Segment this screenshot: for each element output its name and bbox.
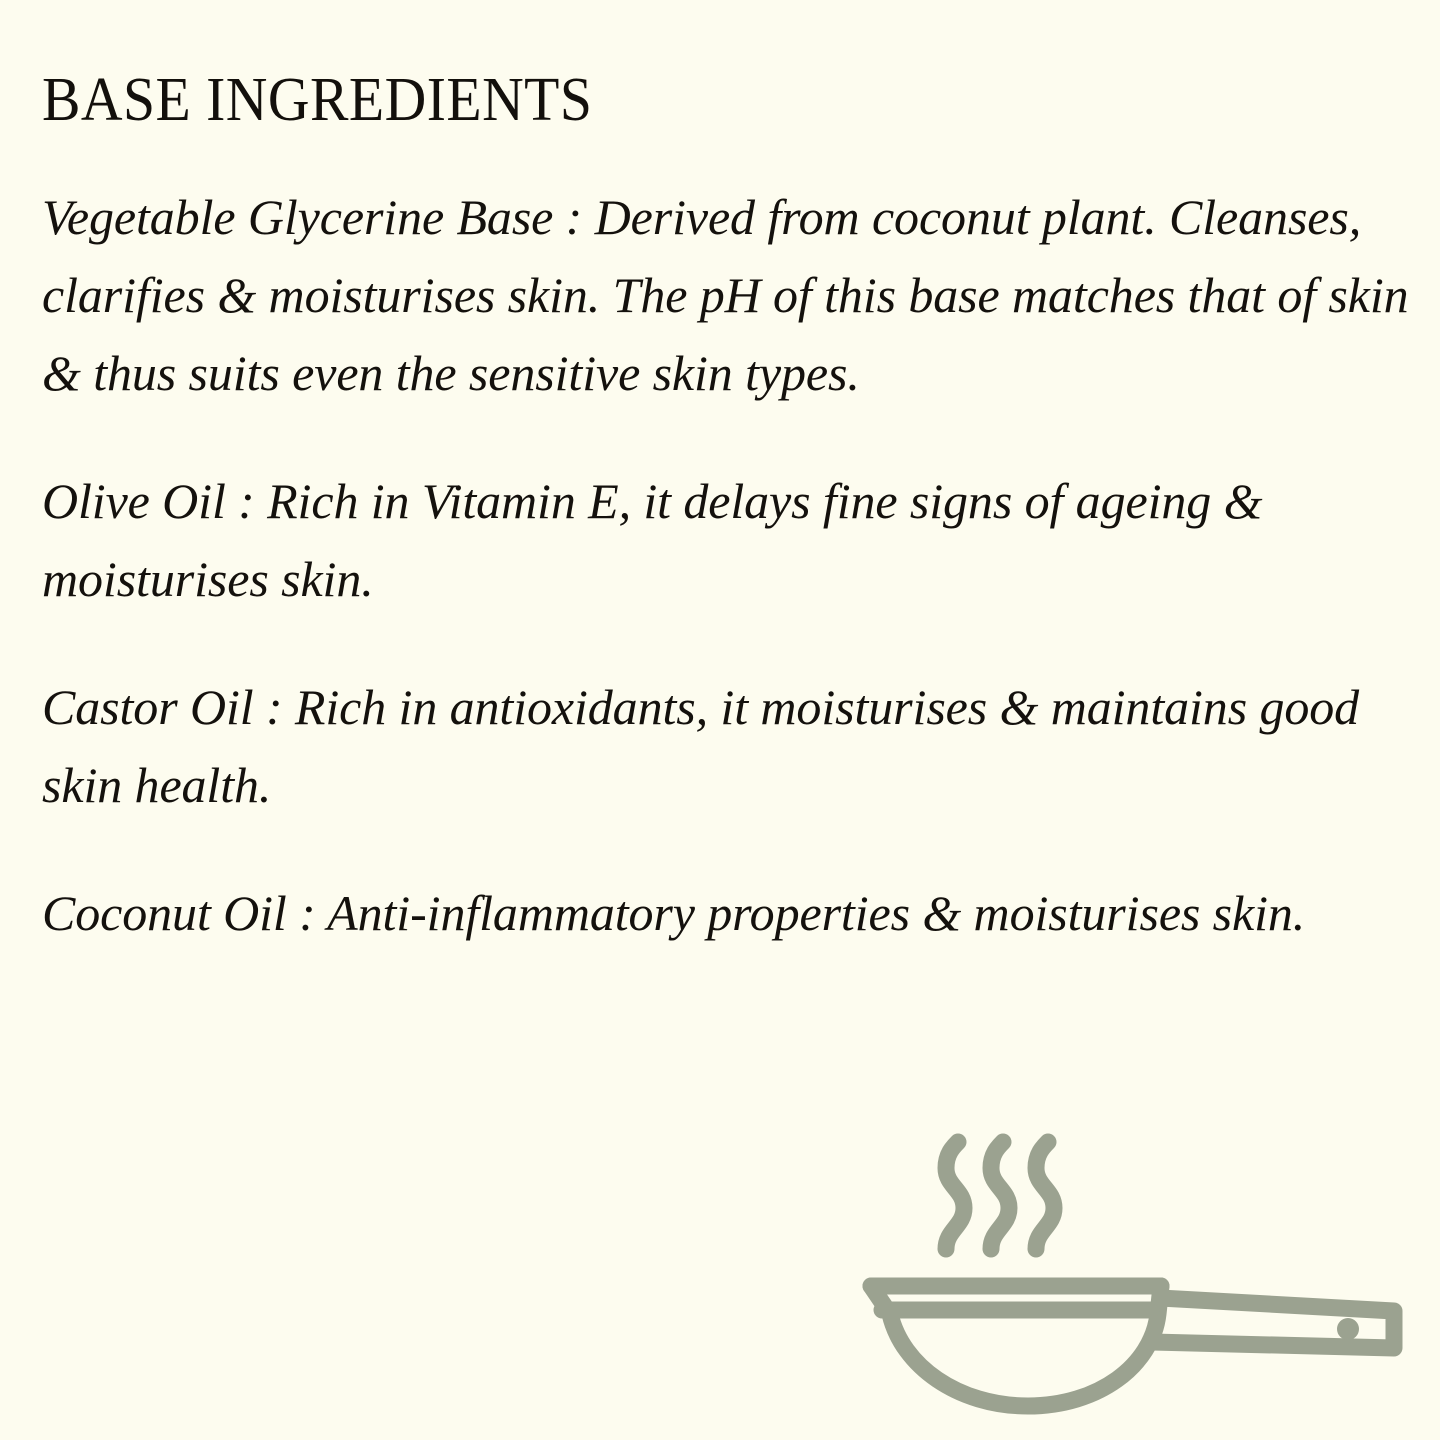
steam-group [946,1142,1054,1249]
ingredient-paragraph-castor-oil: Castor Oil : Rich in antioxidants, it mo… [42,668,1414,824]
frying-pan-svg [846,1118,1424,1428]
ingredients-list: Vegetable Glycerine Base : Derived from … [42,178,1414,952]
ingredient-paragraph-vegetable-glycerine-base: Vegetable Glycerine Base : Derived from … [42,178,1414,412]
ingredients-card: BASE INGREDIENTS Vegetable Glycerine Bas… [0,0,1440,1440]
pan-group [871,1286,1394,1406]
ingredient-paragraph-coconut-oil: Coconut Oil : Anti-inflammatory properti… [42,874,1414,952]
frying-pan-with-steam-icon [846,1118,1424,1428]
steam-line-2 [991,1142,1009,1249]
steam-line-1 [946,1142,964,1249]
steam-line-3 [1036,1142,1054,1249]
pan-handle [1152,1298,1394,1348]
page-title: BASE INGREDIENTS [42,68,1288,133]
pan-handle-hole-icon [1337,1318,1359,1340]
ingredient-paragraph-olive-oil: Olive Oil : Rich in Vitamin E, it delays… [42,462,1414,618]
